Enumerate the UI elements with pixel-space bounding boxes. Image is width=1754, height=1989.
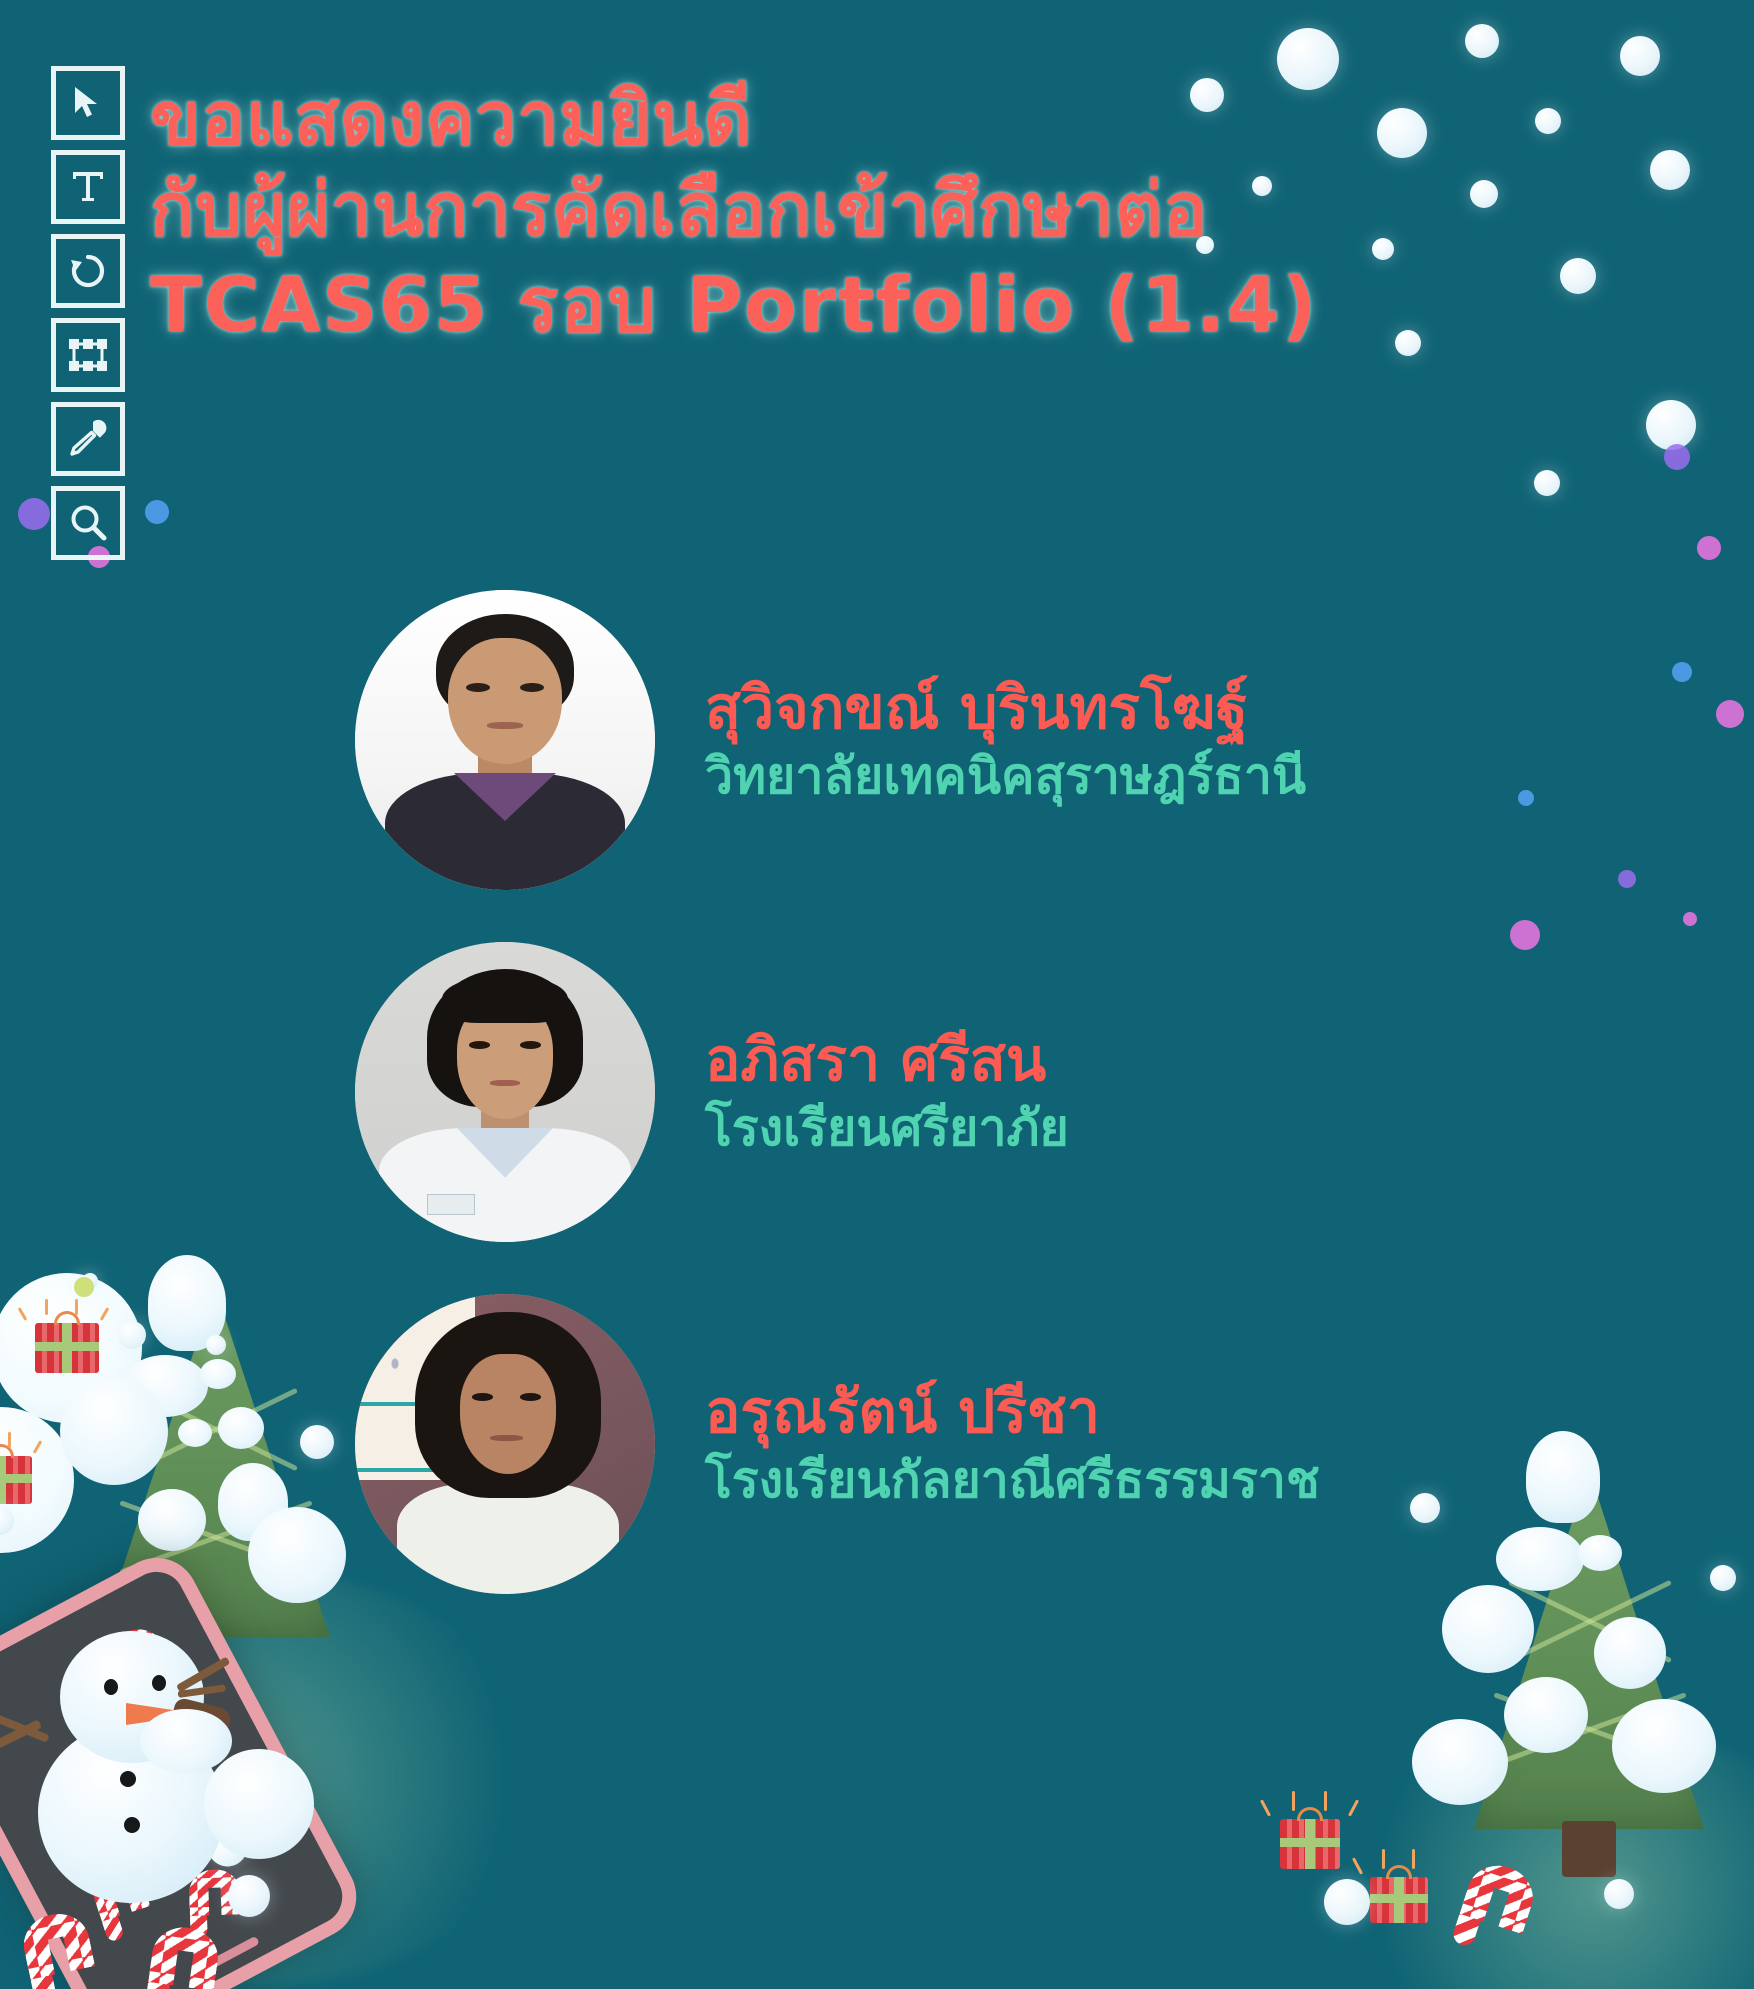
student-portrait-3 xyxy=(355,1294,655,1594)
snow-cap xyxy=(60,1377,168,1485)
snowball xyxy=(1535,108,1561,134)
list-item: อรุณรัตน์ ปรีชา โรงเรียนกัลยาณีศรีธรรมรา… xyxy=(355,1294,1655,1594)
snowball xyxy=(1650,150,1690,190)
snow-cap xyxy=(138,1489,206,1551)
gift-box xyxy=(1370,1877,1428,1923)
student-name: อรุณรัตน์ ปรีชา xyxy=(705,1378,1320,1446)
snowball xyxy=(1377,108,1427,158)
list-item: สุวิจกขณ์ บุรินทรโฆฐ์ วิทยาลัยเทคนิคสุรา… xyxy=(355,590,1655,890)
student-name: สุวิจกขณ์ บุรินทรโฆฐ์ xyxy=(705,674,1306,742)
student-portrait-2 xyxy=(355,942,655,1242)
rotate-undo-icon[interactable] xyxy=(51,234,125,308)
snowball xyxy=(1324,1879,1370,1925)
student-school: โรงเรียนศรียาภัย xyxy=(705,1098,1069,1158)
student-name: อภิสรา ศรีสน xyxy=(705,1026,1069,1094)
confetti-dot xyxy=(1672,662,1692,682)
student-list: สุวิจกขณ์ บุรินทรโฆฐ์ วิทยาลัยเทคนิคสุรา… xyxy=(355,590,1655,1646)
snowball xyxy=(1710,1565,1736,1591)
snowball xyxy=(1620,36,1660,76)
transform-box-icon[interactable] xyxy=(51,318,125,392)
snowball xyxy=(1395,330,1421,356)
headline-line-3: TCAS65 รอบ Portfolio (1.4) xyxy=(150,260,1318,350)
snowball xyxy=(206,1335,226,1355)
confetti-dot xyxy=(1716,700,1744,728)
snowball xyxy=(228,1875,270,1917)
snow-cap xyxy=(248,1507,346,1603)
avatar xyxy=(355,1294,655,1594)
snowball xyxy=(1470,180,1498,208)
editor-toolbar[interactable] xyxy=(51,66,125,560)
confetti-dot xyxy=(145,500,169,524)
cursor-arrow-icon[interactable] xyxy=(51,66,125,140)
headline-line-1: ขอแสดงความยินดี xyxy=(150,78,1318,161)
snow-cap xyxy=(200,1359,236,1389)
list-item: อภิสรา ศรีสน โรงเรียนศรียาภัย xyxy=(355,942,1655,1242)
avatar xyxy=(355,590,655,890)
magnifier-icon[interactable] xyxy=(51,486,125,560)
avatar xyxy=(355,942,655,1242)
gift-box xyxy=(1280,1819,1340,1869)
snowball xyxy=(118,1321,146,1349)
student-school: วิทยาลัยเทคนิคสุราษฎร์ธานี xyxy=(705,746,1306,806)
snowball xyxy=(300,1425,334,1459)
snowball xyxy=(1534,470,1560,496)
snowball xyxy=(74,1277,94,1297)
snow-cap xyxy=(218,1407,264,1449)
confetti-dot xyxy=(1664,444,1690,470)
confetti-dot xyxy=(18,498,50,530)
snowball xyxy=(1560,258,1596,294)
snow-cap xyxy=(1504,1677,1588,1753)
snowball xyxy=(1372,238,1394,260)
confetti-dot xyxy=(1697,536,1721,560)
page-title: ขอแสดงความยินดี กับผู้ผ่านการคัดเลือกเข้… xyxy=(150,78,1318,350)
tree-trunk xyxy=(1562,1821,1616,1877)
eyedropper-icon[interactable] xyxy=(51,402,125,476)
student-portrait-1 xyxy=(355,590,655,890)
snow-cap xyxy=(1612,1699,1716,1793)
snow-cap xyxy=(1412,1719,1508,1805)
snowball xyxy=(1646,400,1696,450)
snowball xyxy=(1604,1879,1634,1909)
text-tool-icon[interactable] xyxy=(51,150,125,224)
student-school: โรงเรียนกัลยาณีศรีธรรมราช xyxy=(705,1450,1320,1510)
headline-line-2: กับผู้ผ่านการคัดเลือกเข้าศึกษาต่อ xyxy=(150,167,1318,254)
snow-cap xyxy=(178,1419,212,1447)
snowball xyxy=(1465,24,1499,58)
confetti-dot xyxy=(1683,912,1697,926)
